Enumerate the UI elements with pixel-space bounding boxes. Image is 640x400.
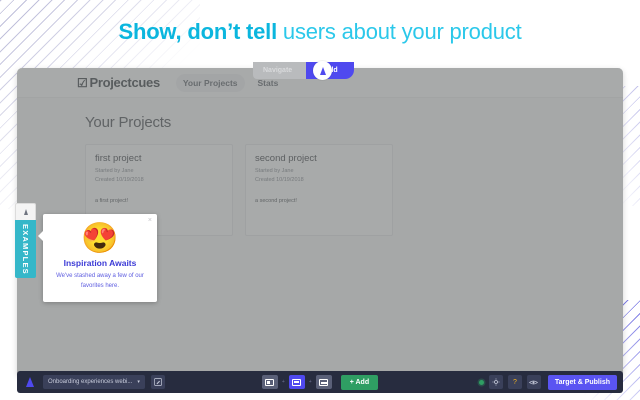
target-and-publish-button[interactable]: Target & Publish: [548, 375, 617, 390]
headline-bold-part: Show, don’t tell: [118, 19, 277, 44]
project-card-started-by: Started by Jane: [255, 167, 383, 176]
preview-eye-icon: [529, 379, 538, 386]
app-logo[interactable]: ☑ Projectcues: [77, 75, 160, 90]
flow-select[interactable]: Onboarding experiences webi... ▾: [43, 375, 145, 389]
project-card-description: a second project!: [255, 198, 383, 204]
toolbar-separator: +: [309, 379, 312, 385]
layout-modal-button[interactable]: [262, 375, 278, 389]
status-indicator-dot: [479, 380, 484, 385]
inspiration-popup: × 😍 Inspiration Awaits We've stashed awa…: [43, 214, 157, 302]
mode-switcher: Navigate Build: [253, 62, 354, 79]
close-icon[interactable]: ×: [148, 217, 152, 224]
help-button[interactable]: ?: [508, 375, 522, 389]
examples-tab-label: EXAMPLES: [21, 224, 30, 275]
nav-item-your-projects[interactable]: Your Projects: [176, 74, 245, 92]
pencil-square-icon: [154, 378, 162, 386]
checkbox-logo-icon: ☑: [77, 77, 87, 89]
add-button[interactable]: + Add: [341, 375, 378, 390]
examples-side-tab[interactable]: EXAMPLES: [15, 203, 36, 278]
project-card-description: a first project!: [95, 198, 223, 204]
headline-regular-part: users about your product: [277, 19, 521, 44]
appcues-logo-icon: [26, 377, 34, 387]
project-card-title: second project: [255, 153, 383, 164]
popup-body-text: We've stashed away a few of our favorite…: [52, 271, 148, 291]
app-logo-text: Projectcues: [89, 75, 159, 90]
project-card[interactable]: second project Started by Jane Created 1…: [245, 144, 393, 236]
flow-select-value: Onboarding experiences webi...: [48, 379, 132, 385]
bottom-bar-layout-icon: [319, 379, 328, 386]
project-card-created: Created 10/19/2018: [95, 176, 223, 185]
settings-button[interactable]: [489, 375, 503, 389]
page-title: Your Projects: [85, 114, 623, 131]
toolbar-right-group: ? Target & Publish: [479, 375, 617, 390]
preview-button[interactable]: [527, 375, 541, 389]
popup-title: Inspiration Awaits: [52, 258, 148, 268]
layout-banner-button[interactable]: [289, 375, 305, 389]
project-card-list: first project Started by Jane Created 10…: [85, 144, 623, 236]
chevron-down-icon: ▾: [137, 379, 140, 385]
banner-layout-icon: [292, 379, 301, 386]
edit-flow-button[interactable]: [151, 375, 165, 389]
screenshot-root: Show, don’t tell users about your produc…: [0, 0, 640, 400]
toolbar-brand[interactable]: [23, 377, 37, 387]
mode-navigate-button[interactable]: Navigate: [253, 62, 306, 79]
bottom-toolbar: Onboarding experiences webi... ▾ + + + A…: [17, 371, 623, 393]
gear-icon: [492, 378, 500, 386]
page-headline: Show, don’t tell users about your produc…: [0, 18, 640, 46]
project-card-started-by: Started by Jane: [95, 167, 223, 176]
appcues-logo-icon: [320, 67, 326, 75]
examples-tab-body[interactable]: EXAMPLES: [15, 220, 36, 278]
project-card-created: Created 10/19/2018: [255, 176, 383, 185]
appcues-triangle-icon: [24, 209, 28, 215]
project-card-title: first project: [95, 153, 223, 164]
heart-eyes-emoji-icon: 😍: [52, 222, 148, 256]
examples-tab-toggle[interactable]: [15, 203, 36, 220]
layout-bottom-bar-button[interactable]: [316, 375, 332, 389]
modal-layout-icon: [265, 379, 274, 386]
mode-switcher-knob[interactable]: [313, 61, 332, 80]
toolbar-separator: +: [282, 379, 285, 385]
